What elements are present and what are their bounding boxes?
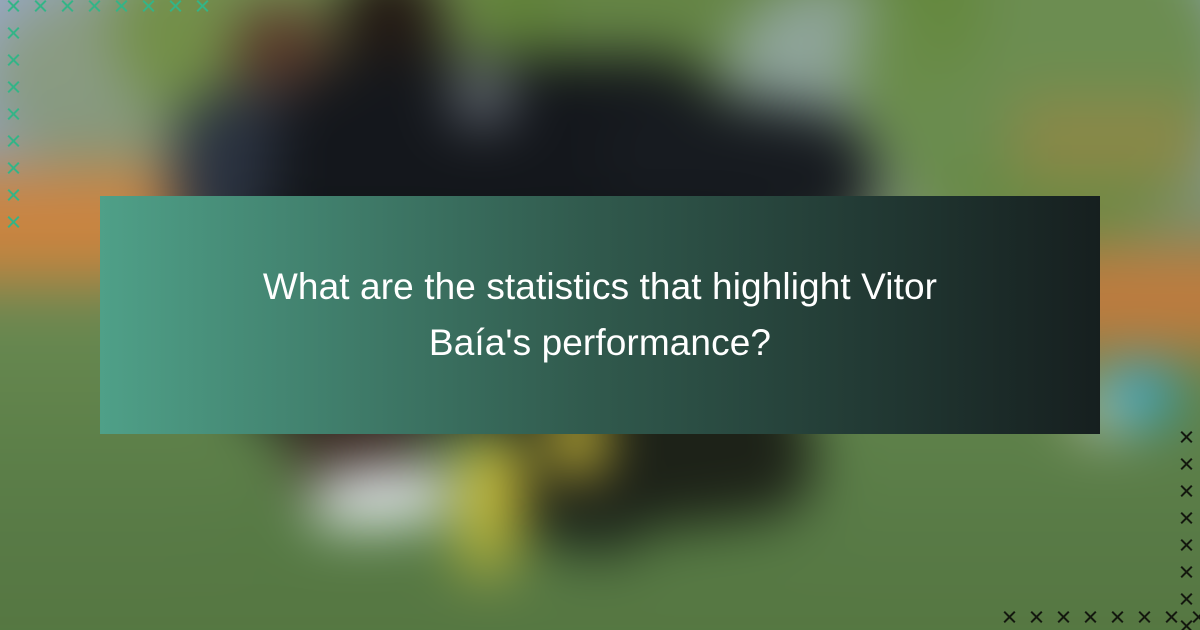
headline-question-text: What are the statistics that highlight V… — [220, 259, 980, 371]
og-image-card: What are the statistics that highlight V… — [0, 0, 1200, 630]
ball-blob — [1109, 363, 1173, 424]
headline-banner: What are the statistics that highlight V… — [100, 196, 1100, 434]
player-boot — [310, 464, 451, 529]
pitch-line — [240, 532, 791, 549]
jersey-badge — [452, 64, 513, 125]
pitch-board-blur — [1013, 98, 1200, 183]
